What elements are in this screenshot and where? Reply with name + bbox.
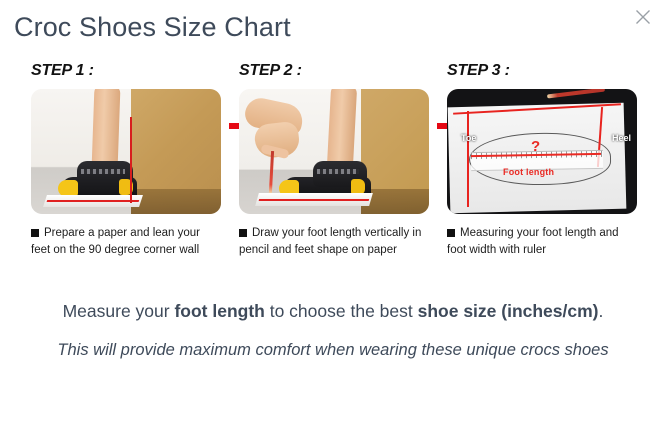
- step-1-caption: Prepare a paper and lean your feet on th…: [31, 225, 221, 258]
- footer-primary-line: Measure your foot length to choose the b…: [0, 300, 666, 324]
- photo3-red-left-line: [467, 111, 469, 207]
- steps-container: STEP 1 : Prepare a paper and lean your f…: [23, 62, 643, 277]
- photo2-leg: [327, 89, 357, 170]
- step-3-photo: ? Toe Heel Foot length: [447, 89, 637, 214]
- step-3-caption: Measuring your foot length and foot widt…: [447, 225, 637, 258]
- size-chart-modal: Croc Shoes Size Chart STEP 1 :: [0, 0, 666, 432]
- step-1: STEP 1 : Prepare a paper and lean your f…: [31, 62, 221, 258]
- step-3: STEP 3 : ? Toe Heel Foot length Measur: [447, 62, 637, 258]
- step-1-caption-text: Prepare a paper and lean your feet on th…: [31, 227, 200, 256]
- footer-secondary-line: This will provide maximum comfort when w…: [0, 338, 666, 364]
- footer-text-2: to choose the best: [265, 301, 418, 321]
- bullet-square-icon: [239, 229, 247, 237]
- photo1-cardboard-shadow: [131, 189, 221, 214]
- photo2-red-guide-line: [259, 199, 369, 201]
- photo1-leg: [92, 89, 121, 171]
- close-button[interactable]: [630, 4, 656, 30]
- footer-bold-shoe-size: shoe size (inches/cm): [418, 301, 599, 321]
- close-icon: [634, 8, 652, 26]
- step-3-caption-text: Measuring your foot length and foot widt…: [447, 227, 619, 256]
- bullet-square-icon: [31, 229, 39, 237]
- photo3-foot-length-label: Foot length: [503, 167, 554, 177]
- bullet-square-icon: [447, 229, 455, 237]
- photo1-sock-band: [81, 169, 125, 174]
- step-2-label: STEP 2 :: [239, 62, 429, 81]
- footer-text-1: Measure your: [63, 301, 175, 321]
- step-2: STEP 2 : Draw your foot length verti: [239, 62, 429, 258]
- step-3-label: STEP 3 :: [447, 62, 637, 81]
- footer-bold-foot-length: foot length: [174, 301, 264, 321]
- page-title: Croc Shoes Size Chart: [14, 12, 291, 43]
- step-1-label: STEP 1 :: [31, 62, 221, 81]
- photo3-question-mark: ?: [531, 139, 540, 154]
- step-1-photo: [31, 89, 221, 214]
- photo3-toe-label: Toe: [461, 133, 476, 143]
- modal-header: Croc Shoes Size Chart: [0, 0, 666, 62]
- photo1-red-vertical-line: [130, 117, 132, 203]
- step-2-caption: Draw your foot length vertically in penc…: [239, 225, 429, 258]
- photo3-heel-label: Heel: [612, 133, 631, 143]
- step-2-photo: [239, 89, 429, 214]
- step-2-caption-text: Draw your foot length vertically in penc…: [239, 227, 421, 256]
- footer-text-3: .: [599, 301, 604, 321]
- photo1-red-guide-line: [47, 200, 139, 202]
- footer-text: Measure your foot length to choose the b…: [0, 300, 666, 363]
- photo2-sock-band: [317, 169, 359, 174]
